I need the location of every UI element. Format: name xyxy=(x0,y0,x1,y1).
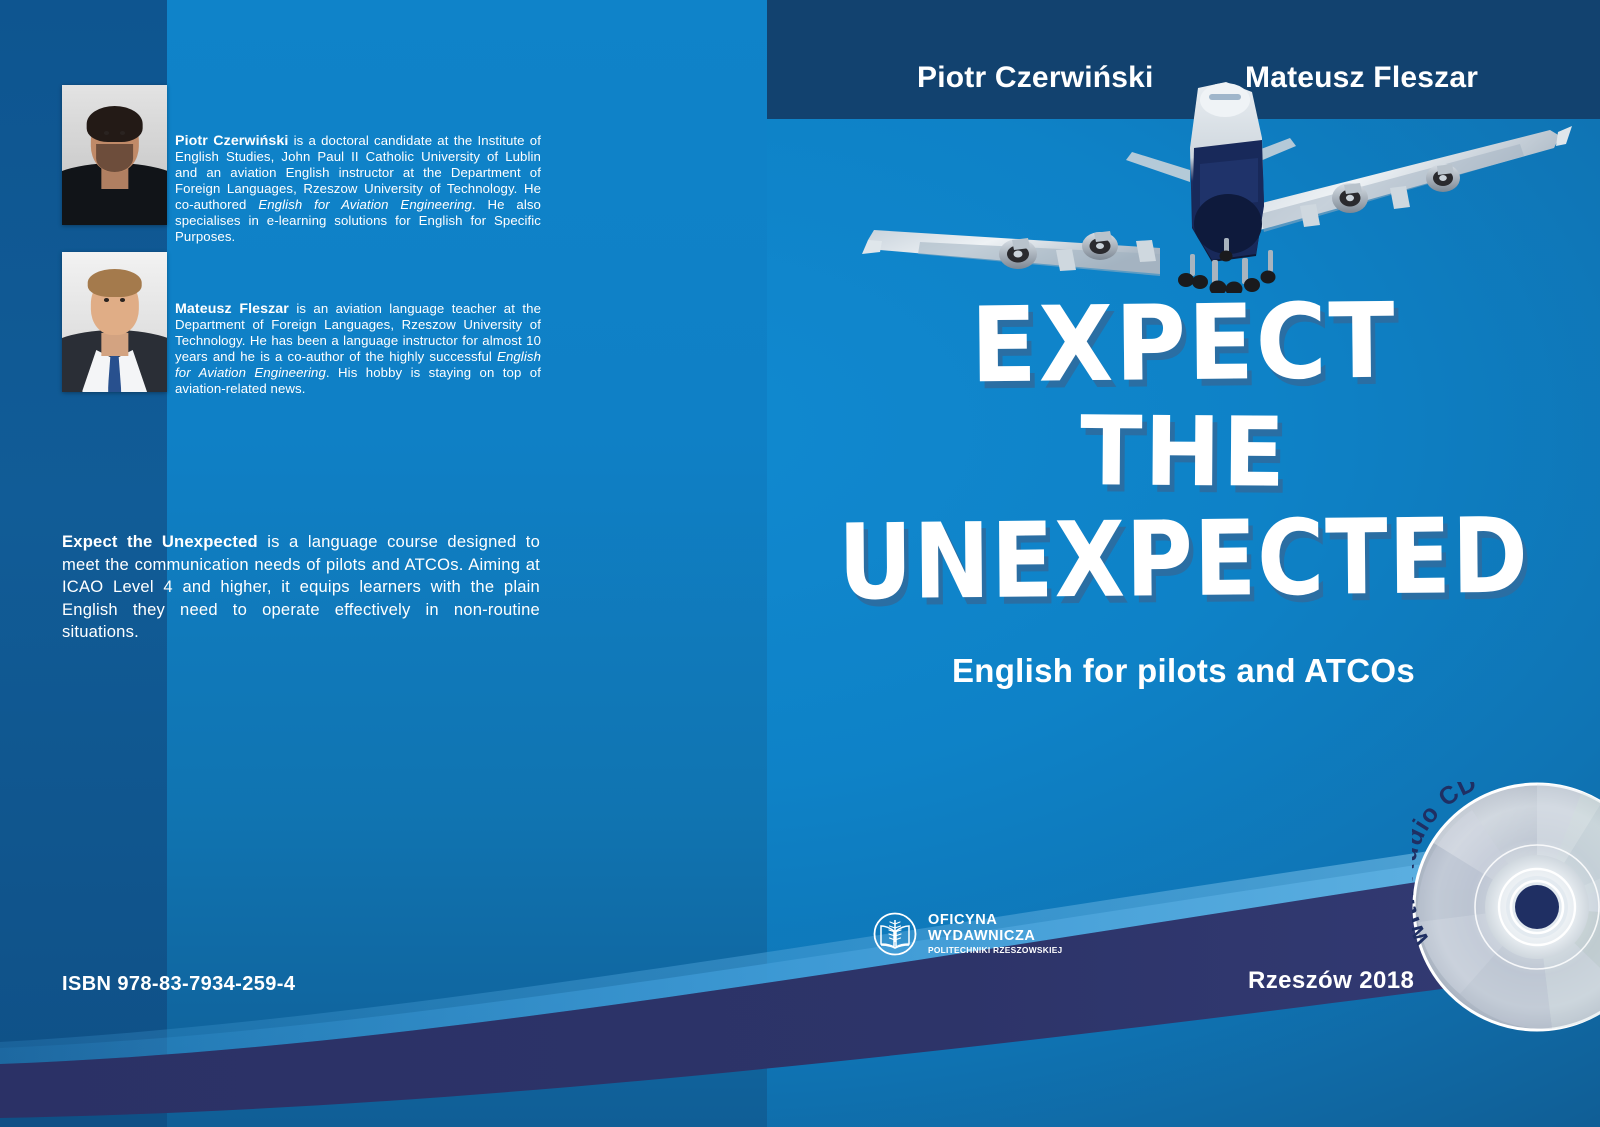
author-bio-piotr-czerwinski: Piotr Czerwiński is a doctoral candidate… xyxy=(175,133,541,245)
author-name-1: Piotr Czerwiński xyxy=(917,61,1154,95)
publisher-text: OFICYNA WYDAWNICZA POLITECHNIKI RZESZOWS… xyxy=(928,913,1063,954)
bio-italic-title-piotr: English for Aviation Engineering xyxy=(258,197,472,212)
bio-name-piotr: Piotr Czerwiński xyxy=(175,133,288,149)
publisher-line-2: WYDAWNICZA xyxy=(928,929,1063,944)
audio-cd-icon: with Audio CD xyxy=(1412,782,1600,1032)
back-cover-blurb: Expect the Unexpected is a language cour… xyxy=(62,531,540,644)
audio-cd-badge: with Audio CD xyxy=(1412,782,1600,1032)
book-wheat-logo-icon xyxy=(873,912,917,956)
author-photo-mateusz-fleszar xyxy=(62,252,167,392)
author-bio-mateusz-fleszar: Mateusz Fleszar is an aviation language … xyxy=(175,301,541,397)
publisher-logo: OFICYNA WYDAWNICZA POLITECHNIKI RZESZOWS… xyxy=(873,912,1063,956)
blurb-bold-title: Expect the Unexpected xyxy=(62,532,258,551)
book-cover-spread: Piotr Czerwiński is a doctoral candidate… xyxy=(0,0,1600,1127)
publisher-line-1: OFICYNA xyxy=(928,913,1063,928)
bio-name-mateusz: Mateusz Fleszar xyxy=(175,301,289,317)
author-photo-piotr-czerwinski xyxy=(62,85,167,225)
author-name-2: Mateusz Fleszar xyxy=(1245,61,1478,95)
publisher-line-3: POLITECHNIKI RZESZOWSKIEJ xyxy=(928,946,1063,955)
front-cover-author-row: Piotr Czerwiński Mateusz Fleszar xyxy=(767,0,1600,119)
place-and-year: Rzeszów 2018 xyxy=(1248,967,1414,995)
book-subtitle: English for pilots and ATCOs xyxy=(767,652,1600,690)
decorative-wave-graphics xyxy=(0,780,1600,1127)
